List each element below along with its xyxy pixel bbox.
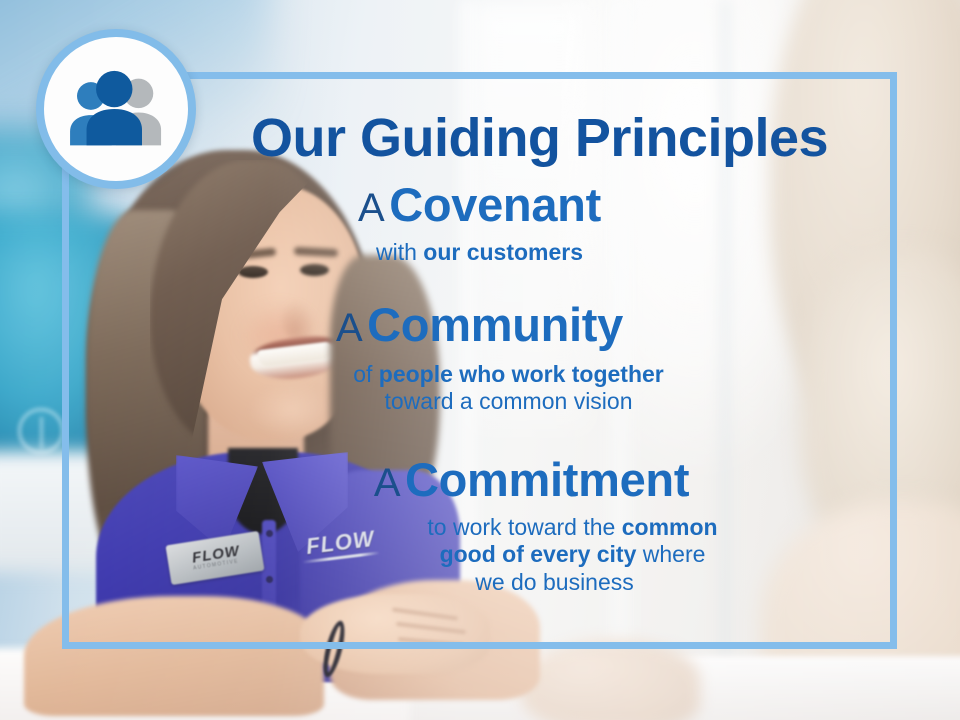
- principle-subline: we do business: [96, 569, 863, 597]
- subline-part: to work toward the: [427, 514, 621, 540]
- subline-part-bold: people who work together: [379, 361, 664, 387]
- principle-word: Covenant: [389, 178, 601, 231]
- principle-article: A: [374, 461, 401, 505]
- principle-subtext: to work toward the common good of every …: [96, 514, 863, 597]
- subline-part: with: [376, 239, 423, 265]
- principle-subline: to work toward the common: [96, 514, 863, 542]
- principle-covenant: A Covenant with our customers: [96, 181, 863, 266]
- subline-part: we do business: [475, 569, 634, 595]
- principle-headline: A Covenant: [96, 181, 863, 230]
- principle-community: A Community of people who work together …: [96, 301, 863, 416]
- guiding-principles-graphic: FLOW AUTOMOTIVE FLOW: [0, 0, 960, 720]
- principle-word: Community: [367, 298, 623, 351]
- subline-part-bold: our customers: [423, 239, 583, 265]
- principle-commitment: A Commitment to work toward the common g…: [96, 456, 863, 597]
- blurred-brand-emblem: [18, 408, 64, 454]
- subline-part-bold: common: [622, 514, 718, 540]
- principles-content: Our Guiding Principles A Covenant with o…: [62, 72, 897, 649]
- principle-headline: A Commitment: [96, 456, 863, 505]
- subline-part: of: [353, 361, 379, 387]
- principle-article: A: [358, 186, 385, 230]
- principle-subtext: of people who work together toward a com…: [96, 361, 863, 416]
- principle-subline: good of every city where: [96, 541, 863, 569]
- subline-part-bold: good of every city: [440, 541, 637, 567]
- principle-subline: of people who work together: [96, 361, 863, 389]
- principle-subline: toward a common vision: [96, 388, 863, 416]
- principle-subline: with our customers: [96, 239, 863, 267]
- customer-hand: [520, 640, 700, 720]
- subline-part: toward a common vision: [385, 388, 633, 414]
- principle-article: A: [336, 306, 363, 350]
- principle-subtext: with our customers: [96, 239, 863, 267]
- subline-part: where: [636, 541, 705, 567]
- principle-headline: A Community: [96, 301, 863, 350]
- principle-word: Commitment: [405, 453, 689, 506]
- page-title: Our Guiding Principles: [96, 90, 863, 167]
